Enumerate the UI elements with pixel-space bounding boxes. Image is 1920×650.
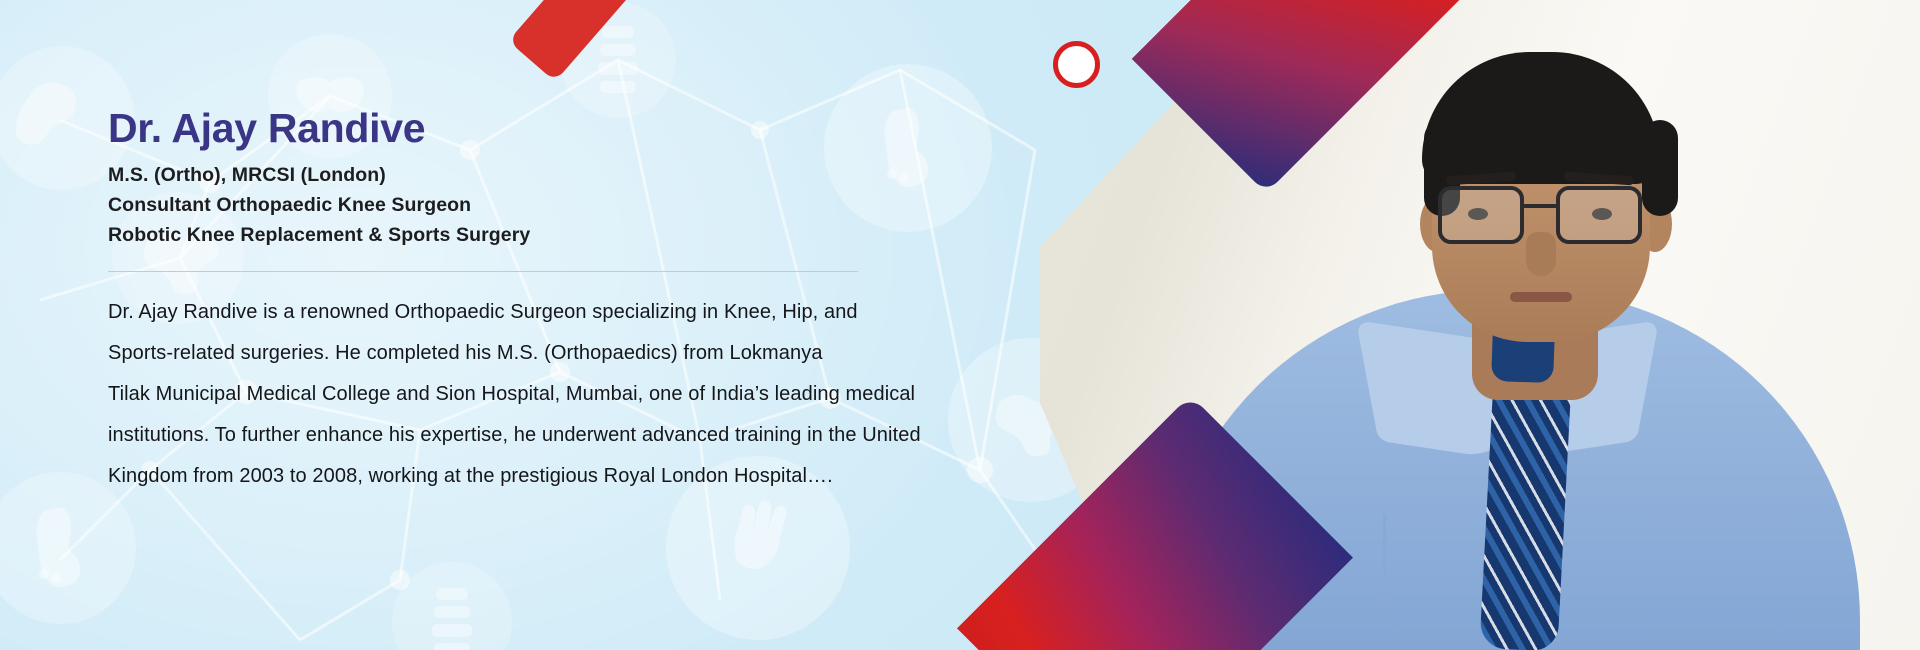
doctor-biography: Dr. Ajay Randive is a renowned Orthopaed… (108, 292, 998, 497)
portrait-nose (1526, 232, 1556, 276)
biography-line: Sports-related surgeries. He completed h… (108, 333, 998, 374)
biography-line: Dr. Ajay Randive is a renowned Orthopaed… (108, 292, 998, 333)
credential-line: M.S. (Ortho), MRCSI (London) (108, 161, 1008, 191)
portrait-hair-right (1642, 120, 1678, 216)
doctor-credentials: M.S. (Ortho), MRCSI (London) Consultant … (108, 161, 1008, 250)
credential-line: Consultant Orthopaedic Knee Surgeon (108, 191, 1008, 221)
credential-line: Robotic Knee Replacement & Sports Surger… (108, 221, 1008, 251)
doctor-info-block: Dr. Ajay Randive M.S. (Ortho), MRCSI (Lo… (108, 104, 1008, 497)
portrait-necktie (1479, 356, 1572, 650)
doctor-name: Dr. Ajay Randive (108, 104, 1008, 152)
portrait-eyeglasses-right (1556, 186, 1642, 244)
section-divider (108, 271, 858, 272)
portrait-eyeglasses-bridge (1524, 204, 1556, 208)
red-diagonal-wedge (508, 0, 634, 82)
portrait-eyeglasses-left (1438, 186, 1524, 244)
portrait-mouth (1510, 292, 1572, 302)
red-outline-circle-icon (1053, 41, 1100, 88)
doctor-profile-hero-banner: Dr. Ajay Randive M.S. (Ortho), MRCSI (Lo… (0, 0, 1920, 650)
biography-line: institutions. To further enhance his exp… (108, 415, 998, 456)
biography-line: Tilak Municipal Medical College and Sion… (108, 374, 998, 415)
biography-line: Kingdom from 2003 to 2008, working at th… (108, 456, 998, 497)
